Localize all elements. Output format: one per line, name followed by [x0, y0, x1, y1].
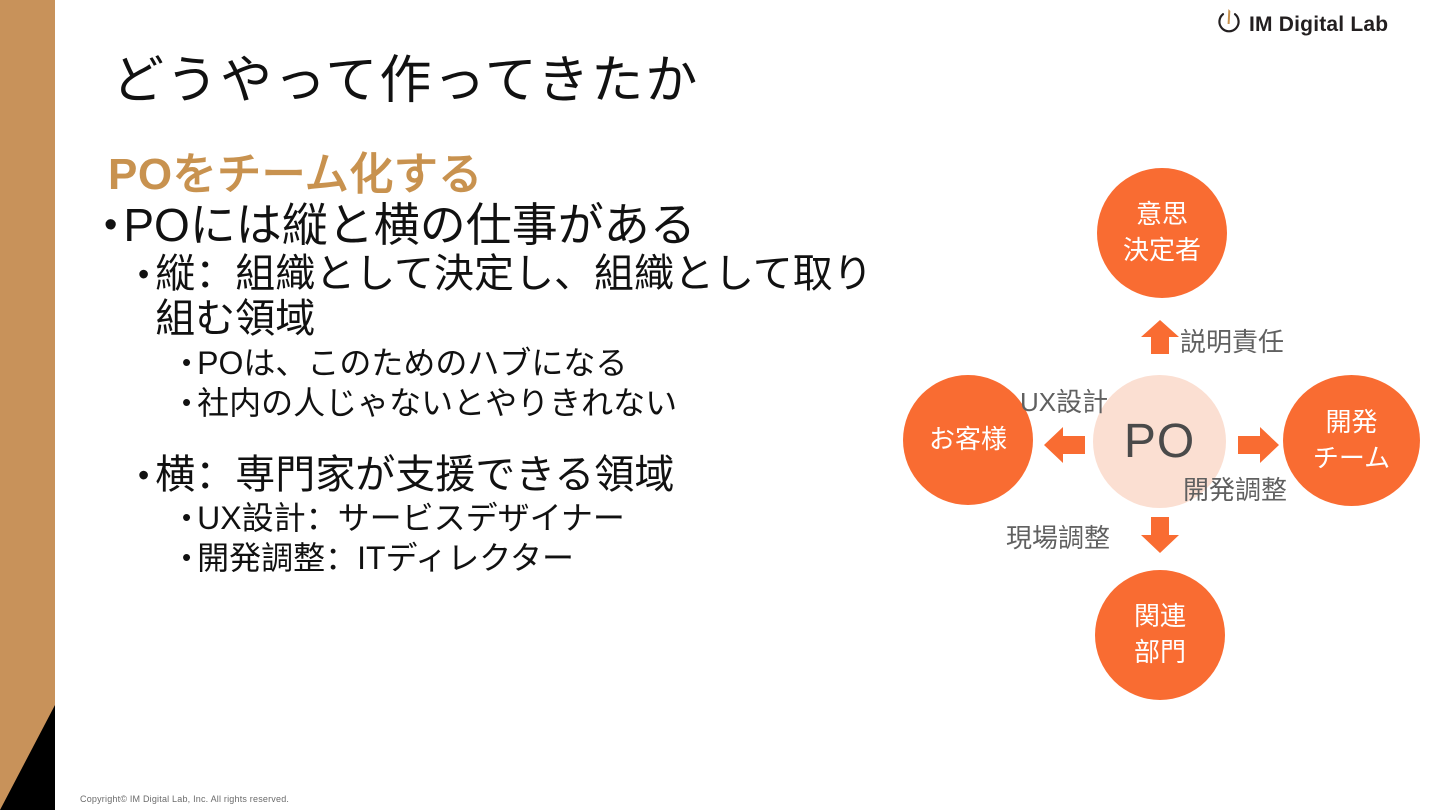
bullet-dot-icon: • [182, 349, 191, 375]
bullet-list: • POには縦と横の仕事がある • 縦：組織として決定し、組織として取り組む領域… [104, 200, 894, 578]
edge-label-field-adjust: 現場調整 [1006, 518, 1110, 555]
bullet-item: • 開発調整：ITディレクター [182, 538, 894, 578]
node-line-1: 関連 [1134, 599, 1186, 635]
bullet-dot-icon: • [182, 544, 191, 570]
bullet-dot-icon: • [182, 389, 191, 415]
bullet-text: 横：専門家が支援できる領域 [155, 453, 894, 499]
slide-subtitle: POをチーム化する [108, 138, 483, 202]
node-line-1: お客様 [929, 422, 1007, 458]
edge-label-ux-design: UX設計 [1020, 382, 1108, 419]
diagram-node-related-dept: 関連 部門 [1095, 570, 1225, 700]
bullet-dot-icon: • [138, 459, 149, 491]
arrow-down-icon [1140, 515, 1180, 560]
edge-label-dev-adjust: 開発調整 [1183, 470, 1287, 507]
diagram-node-dev-team: 開発 チーム [1283, 375, 1420, 506]
brand-logo-text: IM Digital Lab [1249, 13, 1388, 37]
slide-canvas: IM Digital Lab どうやって作ってきたか POをチーム化する • P… [0, 0, 1440, 810]
bullet-item: • POは、このためのハブになる [182, 343, 894, 383]
arrow-right-icon [1237, 425, 1280, 470]
bullet-text: POは、このためのハブになる [197, 343, 894, 383]
bullet-text: POには縦と横の仕事がある [123, 200, 894, 252]
left-accent-bar [0, 0, 55, 810]
node-line-2: 部門 [1134, 635, 1186, 671]
node-line-1: 開発 [1325, 405, 1377, 441]
node-line-2: チーム [1313, 441, 1390, 477]
node-line-2: 決定者 [1123, 233, 1201, 269]
po-hub-diagram: 意思 決定者 お客様 開発 チーム 関連 部門 PO [880, 150, 1440, 720]
bullet-dot-icon: • [138, 258, 149, 290]
edge-label-accountability: 説明責任 [1180, 322, 1284, 359]
node-line-1: 意思 [1136, 197, 1188, 233]
slide-title: どうやって作ってきたか [112, 38, 699, 113]
bullet-text: 社内の人じゃないとやりきれない [197, 383, 894, 423]
bullet-item: • UX設計：サービスデザイナー [182, 498, 894, 538]
brand-logo: IM Digital Lab [1216, 8, 1388, 41]
diagram-node-customer: お客様 [903, 375, 1033, 505]
bullet-text: 開発調整：ITディレクター [197, 538, 894, 578]
power-pencil-icon [1216, 8, 1242, 41]
bullet-item: • 社内の人じゃないとやりきれない [182, 383, 894, 423]
bullet-text: 縦：組織として決定し、組織として取り組む領域 [155, 252, 894, 343]
bullet-text: UX設計：サービスデザイナー [197, 498, 894, 538]
node-center-label: PO [1124, 414, 1195, 469]
bullet-dot-icon: • [182, 504, 191, 530]
bullet-item: • POには縦と横の仕事がある [104, 200, 894, 252]
bullet-item: • 縦：組織として決定し、組織として取り組む領域 [138, 252, 894, 343]
bullet-dot-icon: • [104, 206, 117, 244]
bullet-spacer [104, 423, 894, 453]
footer-copyright: Copyright© IM Digital Lab, Inc. All righ… [80, 794, 289, 804]
diagram-node-decision-maker: 意思 決定者 [1097, 168, 1227, 298]
bullet-item: • 横：専門家が支援できる領域 [138, 453, 894, 499]
arrow-up-icon [1140, 318, 1180, 361]
arrow-left-icon [1043, 425, 1086, 470]
